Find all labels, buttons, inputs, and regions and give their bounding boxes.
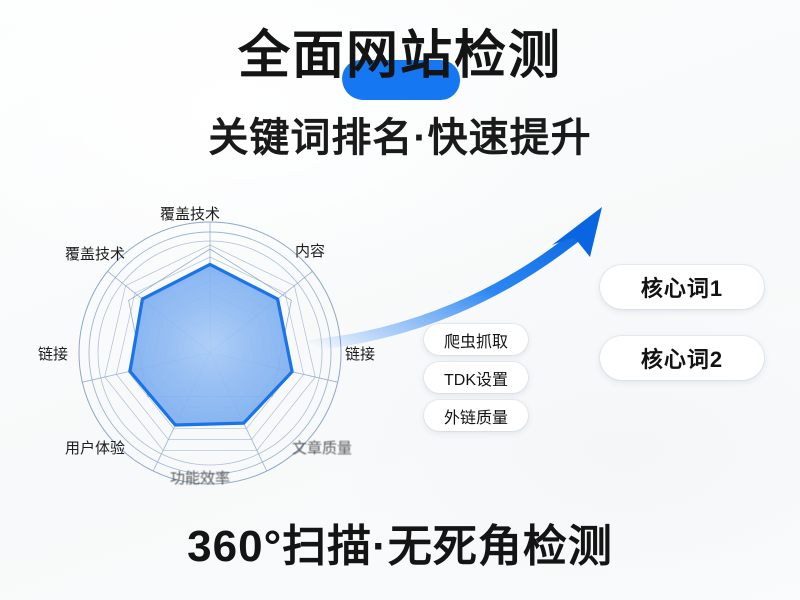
page-title: 全面网站检测 <box>238 30 562 82</box>
keyword-pill-2-label: 核心词2 <box>641 342 723 374</box>
page-title-text: 全面网站检测 <box>238 27 562 85</box>
keyword-pill-1-label: 核心词1 <box>641 271 723 303</box>
check-pill-2[interactable]: TDK设置 <box>424 362 528 393</box>
radar-label-left: 链接 <box>38 343 68 364</box>
radar-series <box>130 264 292 425</box>
check-pill-1[interactable]: 爬虫抓取 <box>424 324 528 355</box>
radar-label-bottom-right: 文章质量 <box>292 437 352 458</box>
footer-title: 360°扫描·无死角检测 <box>0 525 800 569</box>
header-block: 全面网站检测 <box>0 30 800 82</box>
page-subtitle: 关键词排名·快速提升 <box>0 118 800 158</box>
keyword-pill-2[interactable]: 核心词2 <box>600 336 764 380</box>
check-pill-3[interactable]: 外链质量 <box>424 400 528 431</box>
radar-label-bottom: 功能效率 <box>170 467 230 488</box>
keyword-pill-1[interactable]: 核心词1 <box>600 265 764 309</box>
radar-label-top: 覆盖技术 <box>160 203 220 224</box>
radar-label-top-left: 覆盖技术 <box>65 243 125 264</box>
check-pill-1-label: 爬虫抓取 <box>444 328 508 352</box>
radar-label-bottom-left: 用户体验 <box>65 437 125 458</box>
check-pill-3-label: 外链质量 <box>444 404 508 428</box>
check-pill-2-label: TDK设置 <box>444 366 508 390</box>
